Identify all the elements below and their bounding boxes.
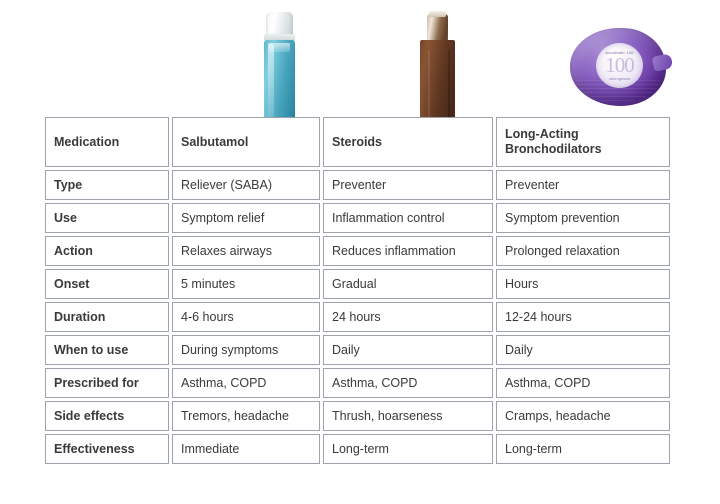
cell-onset-salbutamol: 5 minutes: [172, 269, 320, 299]
cell-when-to-use-salbutamol: During symptoms: [172, 335, 320, 365]
cell-use-laba: Symptom prevention: [496, 203, 670, 233]
cell-side-effects-laba: Cramps, headache: [496, 401, 670, 431]
cell-type-salbutamol: Reliever (SABA): [172, 170, 320, 200]
table-row: Use Symptom relief Inflammation control …: [45, 203, 670, 233]
cell-prescribed-for-salbutamol: Asthma, COPD: [172, 368, 320, 398]
cell-use-steroids: Inflammation control: [323, 203, 493, 233]
cell-duration-steroids: 24 hours: [323, 302, 493, 332]
cell-duration-laba: 12-24 hours: [496, 302, 670, 332]
column-header-long-acting-bronchodilators: Long-ActingBronchodilators: [496, 117, 670, 167]
cell-action-laba: Prolonged relaxation: [496, 236, 670, 266]
row-label-side-effects: Side effects: [45, 401, 169, 431]
table-row: Action Relaxes airways Reduces inflammat…: [45, 236, 670, 266]
row-label-onset: Onset: [45, 269, 169, 299]
medication-comparison-table: Medication Salbutamol Steroids Long-Acti…: [42, 114, 673, 467]
cell-prescribed-for-laba: Asthma, COPD: [496, 368, 670, 398]
cell-when-to-use-laba: Daily: [496, 335, 670, 365]
cell-action-steroids: Reduces inflammation: [323, 236, 493, 266]
cell-when-to-use-steroids: Daily: [323, 335, 493, 365]
purple-accuhaler-disc-image: Accuhaler 100 100 micrograms: [570, 28, 674, 108]
table-header: Medication Salbutamol Steroids Long-Acti…: [45, 117, 670, 167]
table-header-row: Medication Salbutamol Steroids Long-Acti…: [45, 117, 670, 167]
column-header-salbutamol: Salbutamol: [172, 117, 320, 167]
accuhaler-lever: [652, 53, 674, 72]
cell-effectiveness-salbutamol: Immediate: [172, 434, 320, 464]
cell-type-steroids: Preventer: [323, 170, 493, 200]
cell-effectiveness-laba: Long-term: [496, 434, 670, 464]
table-row: Onset 5 minutes Gradual Hours: [45, 269, 670, 299]
table-row: Prescribed for Asthma, COPD Asthma, COPD…: [45, 368, 670, 398]
accuhaler-dose-label: Accuhaler 100 100 micrograms: [596, 43, 643, 88]
comparison-chart-stage: Accuhaler 100 100 micrograms Medication …: [0, 0, 720, 504]
accuhaler-label-number: 100: [596, 55, 643, 76]
cell-onset-steroids: Gradual: [323, 269, 493, 299]
cell-side-effects-salbutamol: Tremors, headache: [172, 401, 320, 431]
table-row: Side effects Tremors, headache Thrush, h…: [45, 401, 670, 431]
cell-duration-salbutamol: 4-6 hours: [172, 302, 320, 332]
cell-action-salbutamol: Relaxes airways: [172, 236, 320, 266]
row-label-type: Type: [45, 170, 169, 200]
row-label-duration: Duration: [45, 302, 169, 332]
column-header-medication: Medication: [45, 117, 169, 167]
column-header-steroids: Steroids: [323, 117, 493, 167]
row-label-effectiveness: Effectiveness: [45, 434, 169, 464]
cell-onset-laba: Hours: [496, 269, 670, 299]
table-row: When to use During symptoms Daily Daily: [45, 335, 670, 365]
cell-use-salbutamol: Symptom relief: [172, 203, 320, 233]
cell-prescribed-for-steroids: Asthma, COPD: [323, 368, 493, 398]
row-label-use: Use: [45, 203, 169, 233]
table-row: Duration 4-6 hours 24 hours 12-24 hours: [45, 302, 670, 332]
row-label-action: Action: [45, 236, 169, 266]
inhaler-brand-label: [268, 43, 290, 52]
cell-side-effects-steroids: Thrush, hoarseness: [323, 401, 493, 431]
cell-effectiveness-steroids: Long-term: [323, 434, 493, 464]
accuhaler-label-sub-text: micrograms: [596, 76, 643, 81]
table-row: Type Reliever (SABA) Preventer Preventer: [45, 170, 670, 200]
table-body: Type Reliever (SABA) Preventer Preventer…: [45, 170, 670, 464]
table-row: Effectiveness Immediate Long-term Long-t…: [45, 434, 670, 464]
cell-type-laba: Preventer: [496, 170, 670, 200]
row-label-prescribed-for: Prescribed for: [45, 368, 169, 398]
row-label-when-to-use: When to use: [45, 335, 169, 365]
